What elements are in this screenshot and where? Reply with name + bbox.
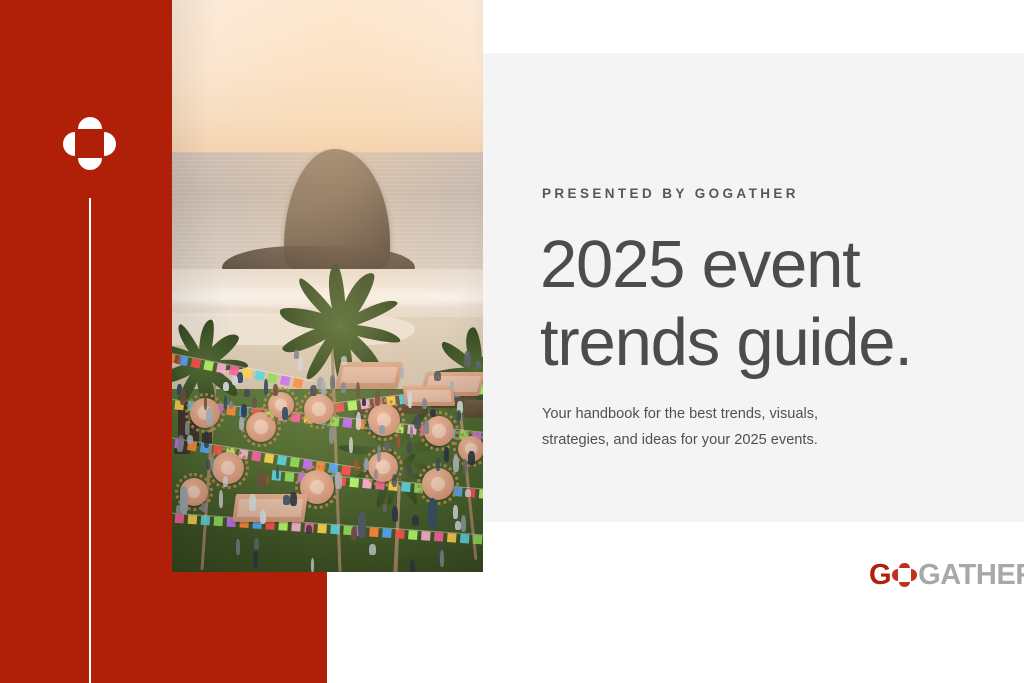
photo-guest xyxy=(476,361,481,369)
photo-guest xyxy=(264,379,268,395)
gogather-logo: G GATHER ® xyxy=(869,559,1024,591)
headline-line-1: 2025 event xyxy=(540,226,1010,304)
vertical-rule xyxy=(89,198,91,683)
photo-papel-picado-flag xyxy=(277,455,287,465)
photo-guest xyxy=(463,459,467,475)
photo-guest xyxy=(468,451,474,465)
photo-guest xyxy=(465,489,471,498)
photo-papel-picado-flag xyxy=(188,515,198,525)
photo-guest-foreground xyxy=(180,486,188,514)
photo-guest xyxy=(177,443,183,453)
photo-guest xyxy=(244,389,250,397)
photo-guest xyxy=(351,527,357,541)
photo-guest xyxy=(187,435,193,443)
photo-papel-picado-flag xyxy=(447,533,457,543)
photo-guest xyxy=(260,510,267,524)
photo-guest xyxy=(383,504,387,513)
photo-papel-picado-flag xyxy=(175,514,185,524)
photo-guest xyxy=(273,384,278,396)
photo-guest xyxy=(290,492,297,506)
photo-guest xyxy=(410,559,416,572)
photo-guest xyxy=(444,447,449,462)
photo-guest xyxy=(354,460,359,471)
photo-papel-picado-flag xyxy=(264,453,274,463)
photo-papel-picado-flag xyxy=(290,457,300,467)
photo-guest xyxy=(321,380,325,396)
logo-wordmark: GATHER xyxy=(918,561,1024,590)
brandmark-dome-left xyxy=(63,132,75,156)
photo-round-table xyxy=(422,468,454,500)
photo-guest xyxy=(430,409,436,418)
photo-papel-picado-flag xyxy=(201,516,211,526)
photo-papel-picado-flag xyxy=(382,528,392,538)
brandmark-dome-right xyxy=(104,132,116,156)
photo-guest xyxy=(356,382,361,398)
photo-guest xyxy=(241,404,247,418)
photo-guest xyxy=(436,457,440,471)
brandmark-dome-top xyxy=(78,117,102,129)
subtitle-line-1: Your handbook for the best trends, visua… xyxy=(542,401,872,427)
photo-round-table xyxy=(268,392,294,418)
photo-guest-foreground xyxy=(428,498,437,528)
photo-guest xyxy=(330,375,336,388)
photo-guest xyxy=(254,538,259,550)
photo-resort-structure xyxy=(464,400,483,418)
photo-guest xyxy=(185,421,189,436)
photo-guest xyxy=(422,398,427,409)
photo-guest xyxy=(298,357,302,372)
photo-guest xyxy=(450,381,455,390)
photo-guest xyxy=(204,432,209,448)
photo-guest xyxy=(335,472,342,489)
photo-guest xyxy=(223,382,229,392)
photo-guest xyxy=(377,445,382,462)
photo-guest xyxy=(294,350,299,359)
photo-guest xyxy=(453,505,458,519)
logo-mark-icon xyxy=(892,563,917,588)
page-title: 2025 event trends guide. xyxy=(540,226,1010,382)
photo-guest xyxy=(453,455,460,473)
photo-guest xyxy=(410,426,414,438)
photo-guest xyxy=(252,397,257,409)
photo-round-table xyxy=(212,452,244,484)
photo-guest xyxy=(392,474,397,488)
photo-papel-picado-flag xyxy=(203,361,214,372)
photo-papel-picado-flag xyxy=(473,535,483,545)
photo-guest xyxy=(232,376,238,385)
photo-guest xyxy=(400,367,404,380)
photo-papel-picado-flag xyxy=(369,528,379,538)
logo-dome-top xyxy=(899,563,910,569)
photo-guest xyxy=(374,469,378,479)
photo-guest xyxy=(434,371,441,380)
brand-lower-block xyxy=(0,572,327,683)
photo-guest xyxy=(258,471,264,488)
photo-papel-picado-flag xyxy=(254,370,265,381)
photo-guest xyxy=(407,466,413,474)
photo-guest xyxy=(369,544,376,555)
photo-guest xyxy=(356,412,361,430)
photo-guest xyxy=(206,459,210,470)
slide-canvas: PRESENTED BY GOGATHER 2025 event trends … xyxy=(0,0,1024,683)
photo-guest xyxy=(341,356,347,365)
cover-photo xyxy=(172,0,483,572)
logo-dome-right xyxy=(911,569,917,580)
photo-guest xyxy=(206,408,213,425)
brandmark-dome-bottom xyxy=(78,158,102,170)
photo-guest xyxy=(180,389,186,405)
photo-guest xyxy=(224,395,228,410)
photo-papel-picado-flag xyxy=(408,530,418,540)
photo-guest-foreground xyxy=(358,512,366,538)
photo-guest xyxy=(397,434,401,448)
logo-dome-bottom xyxy=(899,582,910,588)
photo-papel-picado-flag xyxy=(317,524,327,534)
photo-papel-picado-flag xyxy=(242,368,253,379)
photo-guest xyxy=(175,355,181,364)
gogather-brandmark-icon xyxy=(63,117,116,170)
photo-guest xyxy=(349,437,354,453)
photo-papel-picado-flag xyxy=(341,466,351,476)
photo-papel-picado-flag xyxy=(293,378,304,389)
headline-line-2: trends guide. xyxy=(540,304,1010,382)
photo-papel-picado-flag xyxy=(280,375,291,386)
photo-papel-picado-flag xyxy=(278,521,288,531)
photo-guest xyxy=(236,539,240,555)
photo-guest xyxy=(375,389,380,406)
photo-guest xyxy=(341,382,346,394)
photo-papel-picado-flag xyxy=(347,401,357,411)
photo-guest xyxy=(384,442,390,450)
photo-papel-picado-flag xyxy=(401,482,411,492)
photo-guest xyxy=(379,425,385,435)
photo-papel-picado-flag xyxy=(349,478,359,488)
photo-guest xyxy=(239,417,244,430)
photo-papel-picado-flag xyxy=(330,525,340,535)
photo-papel-picado-flag xyxy=(214,517,224,527)
photo-guest xyxy=(408,391,412,408)
photo-guest xyxy=(407,441,412,454)
logo-dome-left xyxy=(892,569,898,580)
photo-guest xyxy=(237,372,243,383)
photo-guest xyxy=(306,525,312,535)
photo-papel-picado-flag xyxy=(421,531,431,541)
photo-guest xyxy=(283,495,289,504)
photo-guest xyxy=(282,407,288,420)
photo-guest xyxy=(461,515,466,532)
photo-guest xyxy=(329,426,335,444)
photo-papel-picado-flag xyxy=(251,451,261,461)
subtitle-text: Your handbook for the best trends, visua… xyxy=(542,401,872,453)
photo-guest xyxy=(414,415,421,429)
logo-letter-g: G xyxy=(869,561,891,590)
photo-papel-picado-flag xyxy=(191,358,202,369)
photo-guest xyxy=(362,398,367,406)
photo-guest xyxy=(392,506,399,522)
photo-guest xyxy=(253,551,258,568)
photo-guest xyxy=(464,351,471,367)
photo-papel-picado-flag xyxy=(291,522,301,532)
photo-papel-picado-flag xyxy=(479,489,483,499)
photo-guest xyxy=(364,459,369,470)
cover-photo-scene xyxy=(172,0,483,572)
photo-guest xyxy=(424,420,429,435)
photo-papel-picado-flag xyxy=(395,529,405,539)
photo-round-table xyxy=(304,394,334,424)
photo-papel-picado-flag xyxy=(216,363,227,374)
photo-papel-picado-flag xyxy=(460,534,470,544)
photo-guest xyxy=(310,385,316,396)
photo-papel-picado-flag xyxy=(342,418,352,428)
photo-guest xyxy=(211,454,215,472)
subtitle-line-2: strategies, and ideas for your 2025 even… xyxy=(542,427,872,453)
photo-guest xyxy=(223,476,229,487)
photo-sky xyxy=(172,0,483,154)
eyebrow-text: PRESENTED BY GOGATHER xyxy=(542,186,799,201)
photo-guest xyxy=(412,515,419,527)
photo-papel-picado-flag xyxy=(285,472,295,482)
photo-papel-picado-flag xyxy=(267,373,278,384)
photo-guest xyxy=(249,494,256,512)
photo-guest xyxy=(457,410,461,421)
photo-guest xyxy=(201,503,207,512)
photo-papel-picado-flag xyxy=(434,532,444,542)
